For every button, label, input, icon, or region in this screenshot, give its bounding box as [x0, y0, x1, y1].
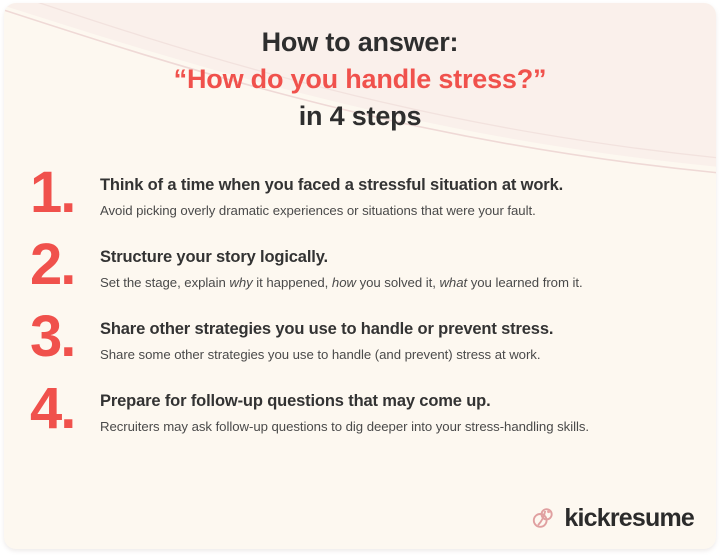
- step-body: Structure your story logically. Set the …: [100, 243, 716, 291]
- desc-part: you learned from it.: [467, 275, 583, 290]
- step-description: Set the stage, explain why it happened, …: [100, 274, 716, 291]
- step-item: 4. Prepare for follow-up questions that …: [4, 387, 716, 459]
- brand-logo: kickresume: [530, 505, 694, 531]
- title-line-1: How to answer:: [4, 25, 716, 60]
- desc-emphasis-3: what: [439, 275, 467, 290]
- step-heading: Share other strategies you use to handle…: [100, 319, 716, 340]
- infographic-page: How to answer: “How do you handle stress…: [0, 0, 720, 557]
- kickresume-swirl-icon: [530, 505, 556, 531]
- infographic-card: How to answer: “How do you handle stress…: [4, 3, 716, 549]
- desc-part: it happened,: [253, 275, 332, 290]
- step-description: Share some other strategies you use to h…: [100, 346, 716, 363]
- desc-part: you solved it,: [356, 275, 440, 290]
- step-item: 1. Think of a time when you faced a stre…: [4, 171, 716, 243]
- desc-part: Share some other strategies you use to h…: [100, 347, 540, 362]
- step-body: Prepare for follow-up questions that may…: [100, 387, 716, 435]
- step-number: 4.: [4, 381, 100, 438]
- step-heading: Prepare for follow-up questions that may…: [100, 391, 716, 412]
- step-item: 2. Structure your story logically. Set t…: [4, 243, 716, 315]
- step-description: Avoid picking overly dramatic experience…: [100, 202, 716, 219]
- step-heading: Structure your story logically.: [100, 247, 716, 268]
- desc-part: Avoid picking overly dramatic experience…: [100, 203, 536, 218]
- desc-emphasis-2: how: [332, 275, 356, 290]
- desc-emphasis-1: why: [229, 275, 252, 290]
- step-body: Share other strategies you use to handle…: [100, 315, 716, 363]
- step-number: 2.: [4, 237, 100, 294]
- brand-name: kickresume: [564, 506, 694, 531]
- title-line-3: in 4 steps: [4, 99, 716, 134]
- step-heading: Think of a time when you faced a stressf…: [100, 175, 716, 196]
- step-description: Recruiters may ask follow-up questions t…: [100, 418, 716, 435]
- steps-list: 1. Think of a time when you faced a stre…: [4, 171, 716, 459]
- step-item: 3. Share other strategies you use to han…: [4, 315, 716, 387]
- desc-part: Set the stage, explain: [100, 275, 229, 290]
- page-title: How to answer: “How do you handle stress…: [4, 25, 716, 134]
- step-number: 1.: [4, 165, 100, 222]
- desc-part: Recruiters may ask follow-up questions t…: [100, 419, 589, 434]
- step-body: Think of a time when you faced a stressf…: [100, 171, 716, 219]
- title-line-2: “How do you handle stress?”: [4, 62, 716, 97]
- step-number: 3.: [4, 309, 100, 366]
